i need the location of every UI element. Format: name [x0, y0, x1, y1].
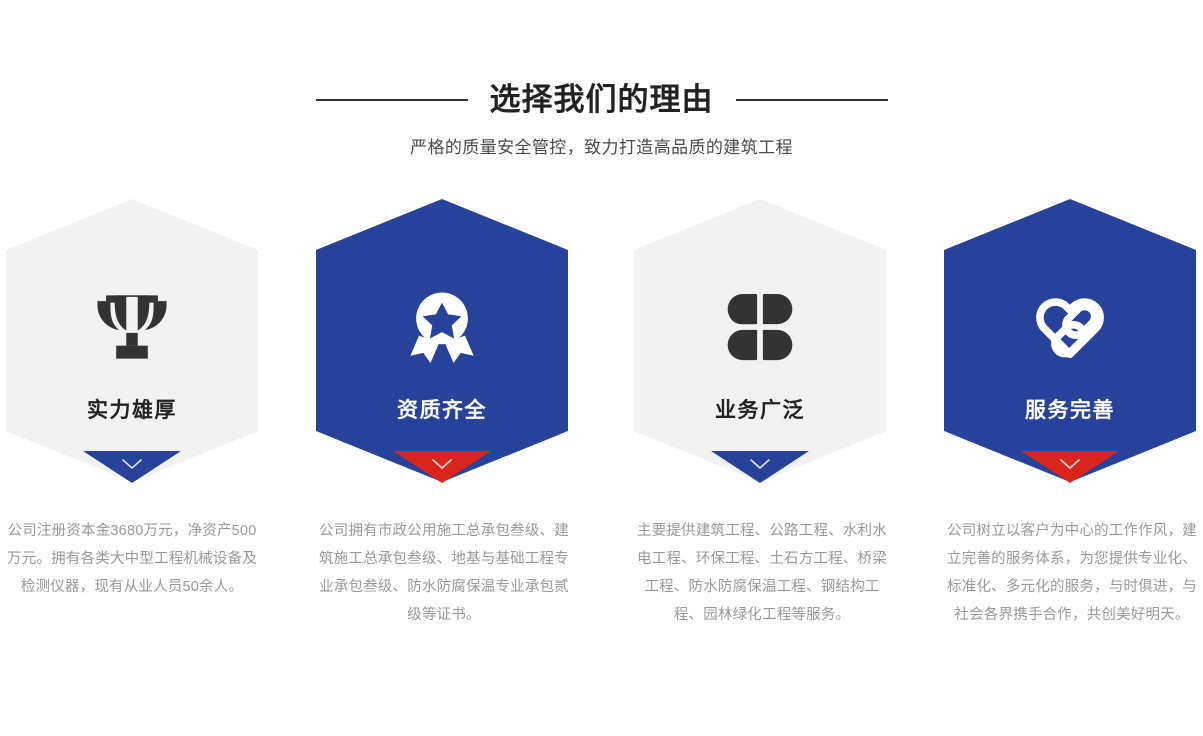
- award-medal-icon: [394, 279, 490, 375]
- title-row: 选择我们的理由: [0, 78, 1203, 122]
- feature-card-title: 服务完善: [1025, 397, 1115, 425]
- feature-card-description: 主要提供建筑工程、公路工程、水利水电工程、环保工程、土石方工程、桥梁工程、防水防…: [634, 517, 890, 629]
- feature-card-description: 公司树立以客户为中心的工作作风，建立完善的服务体系，为您提供专业化、标准化、多元…: [944, 517, 1200, 629]
- page-title: 选择我们的理由: [490, 78, 714, 122]
- hexagon-shape: 实力雄厚: [6, 199, 258, 482]
- feature-card-service[interactable]: 服务完善 公司树立以客户为中心的工作作风，建立完善的服务体系，为您提供专业化、标…: [944, 199, 1196, 482]
- chevron-down-icon: [749, 458, 771, 471]
- feature-card-business-scope[interactable]: 业务广泛 主要提供建筑工程、公路工程、水利水电工程、环保工程、土石方工程、桥梁工…: [634, 199, 886, 482]
- title-rule-left-icon: [316, 99, 468, 101]
- chevron-down-icon: [431, 458, 453, 471]
- feature-card-description: 公司注册资本金3680万元，净资产500万元。拥有各类大中型工程机械设备及检测仪…: [3, 517, 261, 601]
- why-choose-us-section: 选择我们的理由 严格的质量安全管控，致力打造高品质的建筑工程: [0, 0, 1203, 736]
- feature-card-title: 业务广泛: [715, 397, 805, 425]
- title-rule-right-icon: [736, 99, 888, 101]
- section-subtitle: 严格的质量安全管控，致力打造高品质的建筑工程: [0, 136, 1203, 160]
- section-header: 选择我们的理由 严格的质量安全管控，致力打造高品质的建筑工程: [0, 78, 1203, 160]
- chevron-down-icon: [1059, 458, 1081, 471]
- feature-card-description: 公司拥有市政公用施工总承包叁级、建筑施工总承包叁级、地基与基础工程专业承包叁级、…: [316, 517, 572, 629]
- feature-card-title: 实力雄厚: [87, 397, 177, 425]
- chevron-down-icon: [121, 458, 143, 471]
- hexagon-shape: 业务广泛: [634, 199, 886, 482]
- feature-card-list: 实力雄厚 公司注册资本金3680万元，净资产500万元。拥有各类大中型工程机械设…: [0, 199, 1203, 699]
- feature-card-strength[interactable]: 实力雄厚 公司注册资本金3680万元，净资产500万元。拥有各类大中型工程机械设…: [6, 199, 258, 482]
- trophy-icon: [84, 279, 180, 375]
- linked-hearts-icon: [1022, 279, 1118, 375]
- four-petal-clover-icon: [712, 279, 808, 375]
- feature-card-qualifications[interactable]: 资质齐全 公司拥有市政公用施工总承包叁级、建筑施工总承包叁级、地基与基础工程专业…: [316, 199, 568, 482]
- hexagon-shape: 服务完善: [944, 199, 1196, 482]
- feature-card-title: 资质齐全: [397, 397, 487, 425]
- hexagon-shape: 资质齐全: [316, 199, 568, 482]
